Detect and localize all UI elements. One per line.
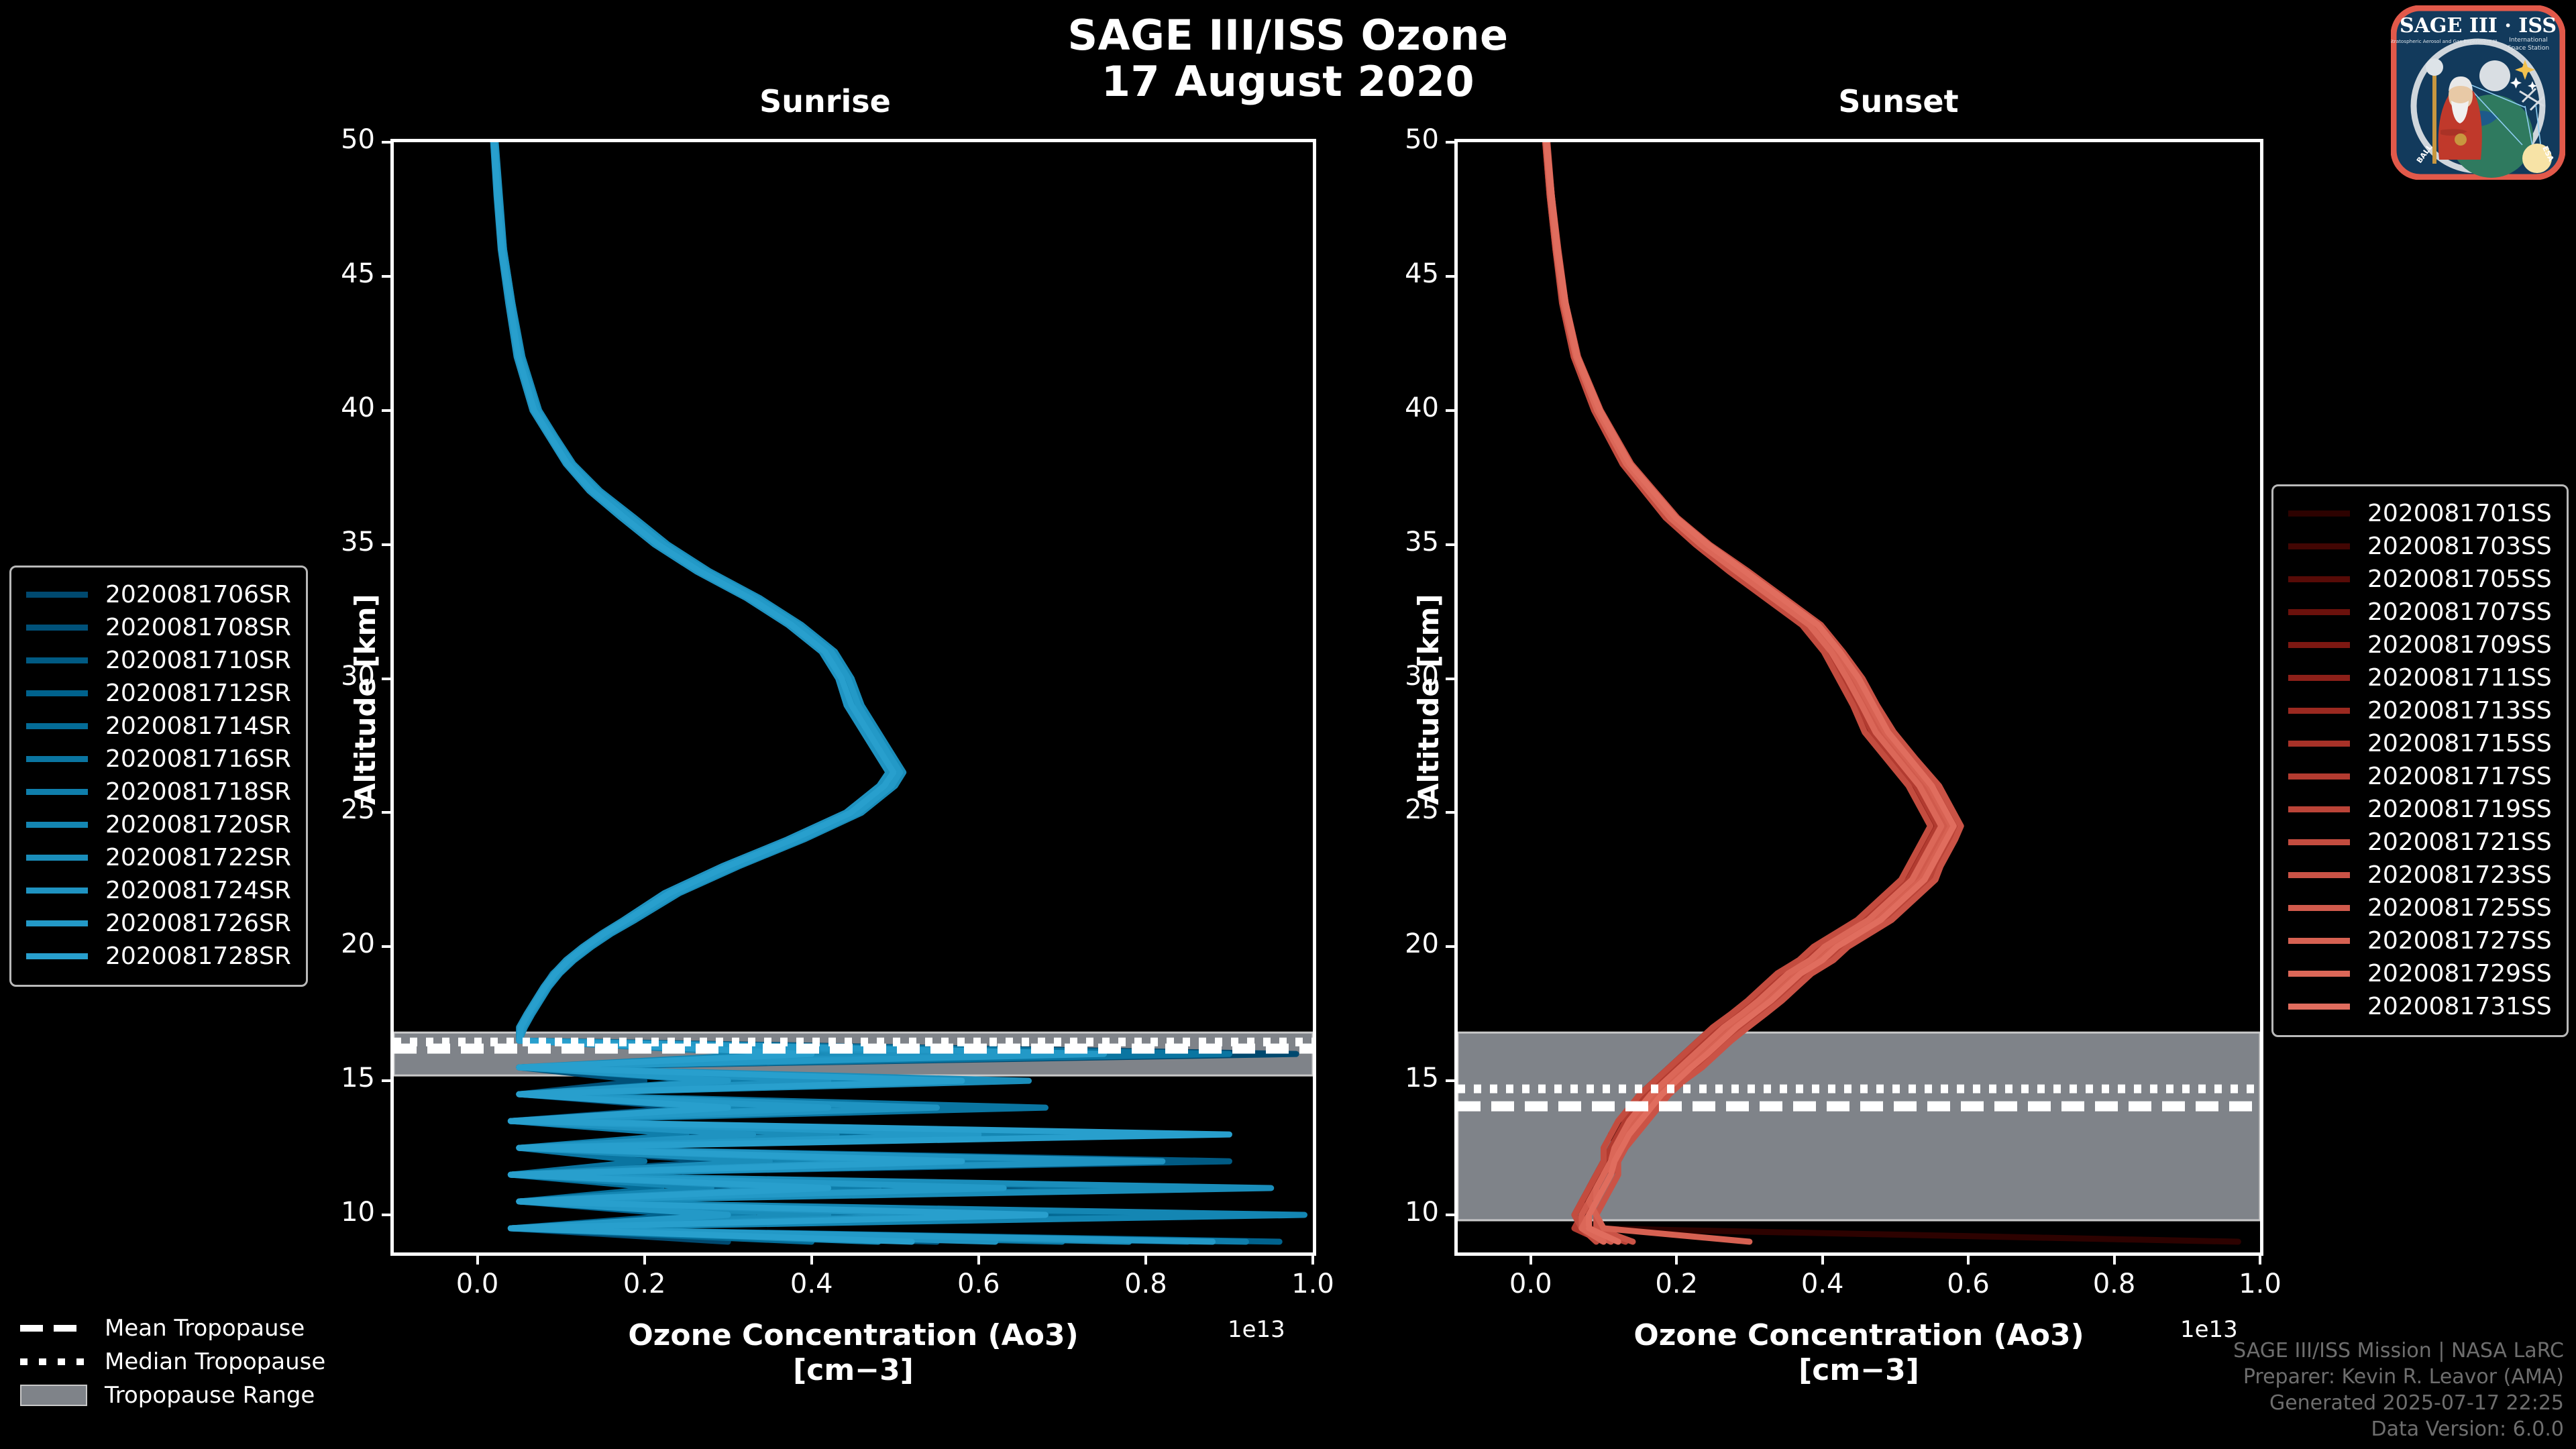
legend-item-label: 2020081709SS xyxy=(2367,631,2552,659)
legend-item-label: 2020081710SR xyxy=(105,647,291,674)
legend-color-swatch xyxy=(2288,511,2350,517)
y-tick-mark xyxy=(382,141,394,144)
y-tick-label: 45 xyxy=(294,258,375,289)
x-tick-label: 1.0 xyxy=(2206,1269,2314,1299)
legend-color-swatch xyxy=(2288,872,2350,878)
legend-item-label: 2020081731SS xyxy=(2367,993,2552,1020)
tropopause-legend-mean-row: Mean Tropopause xyxy=(20,1311,325,1345)
y-tick-mark xyxy=(382,409,394,412)
legend-item-label: 2020081705SS xyxy=(2367,566,2552,593)
footer-generated: Generated 2025-07-17 22:25 xyxy=(2233,1390,2564,1416)
legend-color-swatch xyxy=(26,625,88,631)
sunrise-exponent-label: 1e13 xyxy=(1228,1316,1285,1343)
tropopause-legend-median-row: Median Tropopause xyxy=(20,1345,325,1379)
y-tick-mark xyxy=(1446,811,1458,814)
legend-item-label: 2020081708SR xyxy=(105,614,291,641)
legend-item[interactable]: 2020081726SR xyxy=(26,907,291,940)
sunset-profile-svg xyxy=(1458,142,2260,1252)
sunset-x-axis-label: Ozone Concentration (Ao3) [cm−3] xyxy=(1454,1318,2263,1388)
legend-item[interactable]: 2020081722SR xyxy=(26,841,291,874)
y-tick-mark xyxy=(1446,1214,1458,1216)
x-tick-mark xyxy=(476,1252,479,1265)
y-tick-mark xyxy=(382,275,394,278)
legend-color-swatch xyxy=(26,657,88,663)
sunrise-xlabel-line2: [cm−3] xyxy=(390,1353,1316,1388)
legend-color-swatch xyxy=(26,920,88,926)
y-tick-mark xyxy=(1446,1079,1458,1082)
sunrise-xlabel-line1: Ozone Concentration (Ao3) xyxy=(390,1318,1316,1353)
tropopause-legend-range-row: Tropopause Range xyxy=(20,1379,325,1412)
legend-item[interactable]: 2020081731SS xyxy=(2288,990,2552,1023)
logo-svg: SAGE III · ISS Stratospheric Aerosol and… xyxy=(2391,5,2565,180)
x-tick-label: 0.8 xyxy=(1092,1269,1199,1299)
y-tick-label: 45 xyxy=(1358,258,1439,289)
legend-item[interactable]: 2020081724SR xyxy=(26,874,291,907)
x-tick-label: 0.6 xyxy=(925,1269,1032,1299)
legend-item-label: 2020081724SR xyxy=(105,877,291,904)
legend-item-label: 2020081729SS xyxy=(2367,960,2552,987)
sunset-xlabel-line2: [cm−3] xyxy=(1454,1353,2263,1388)
y-tick-mark xyxy=(382,811,394,814)
legend-color-swatch xyxy=(2288,938,2350,944)
legend-item[interactable]: 2020081703SS xyxy=(2288,530,2552,563)
x-tick-label: 1.0 xyxy=(1259,1269,1366,1299)
legend-item-label: 2020081714SR xyxy=(105,712,291,740)
x-tick-mark xyxy=(2113,1252,2116,1265)
y-tick-label: 50 xyxy=(1358,124,1439,155)
sunrise-profile-svg xyxy=(394,142,1313,1252)
tropopause-range-box-icon xyxy=(20,1385,87,1406)
sunset-exponent-label: 1e13 xyxy=(2180,1316,2238,1343)
legend-color-swatch xyxy=(2288,1004,2350,1010)
legend-item[interactable]: 2020081727SS xyxy=(2288,924,2552,957)
x-tick-mark xyxy=(1967,1252,1970,1265)
y-tick-label: 20 xyxy=(1358,928,1439,959)
sunset-plot-area[interactable] xyxy=(1454,139,2263,1256)
legend-color-swatch xyxy=(2288,576,2350,582)
x-tick-mark xyxy=(2259,1252,2261,1265)
legend-item[interactable]: 2020081708SR xyxy=(26,611,291,644)
x-tick-mark xyxy=(1821,1252,1824,1265)
legend-item[interactable]: 2020081710SR xyxy=(26,644,291,677)
legend-item-label: 2020081703SS xyxy=(2367,533,2552,560)
y-tick-mark xyxy=(1446,543,1458,546)
title-line-2: 17 August 2020 xyxy=(0,58,2576,105)
logo-moon xyxy=(2479,60,2510,91)
legend-color-swatch xyxy=(26,789,88,795)
legend-color-swatch xyxy=(2288,675,2350,681)
legend-item-label: 2020081720SR xyxy=(105,811,291,839)
tropopause-legend[interactable]: Mean Tropopause Median Tropopause Tropop… xyxy=(20,1311,325,1412)
legend-item-label: 2020081725SS xyxy=(2367,894,2552,922)
title-line-1: SAGE III/ISS Ozone xyxy=(0,12,2576,58)
legend-item[interactable]: 2020081717SS xyxy=(2288,760,2552,793)
sunrise-panel-title: Sunrise xyxy=(590,83,1060,119)
legend-item[interactable]: 2020081712SR xyxy=(26,677,291,710)
x-tick-mark xyxy=(1311,1252,1314,1265)
sunset-xlabel-line1: Ozone Concentration (Ao3) xyxy=(1454,1318,2263,1353)
sunset-panel-title: Sunset xyxy=(1664,83,2133,119)
legend-item-label: 2020081727SS xyxy=(2367,927,2552,955)
legend-item[interactable]: 2020081728SR xyxy=(26,940,291,973)
legend-item[interactable]: 2020081723SS xyxy=(2288,859,2552,892)
tropopause-range-label: Tropopause Range xyxy=(105,1382,315,1409)
legend-item[interactable]: 2020081729SS xyxy=(2288,957,2552,990)
legend-item-label: 2020081723SS xyxy=(2367,861,2552,889)
y-tick-mark xyxy=(382,945,394,948)
y-tick-mark xyxy=(1446,275,1458,278)
x-tick-mark xyxy=(977,1252,980,1265)
y-tick-mark xyxy=(1446,945,1458,948)
legend-item[interactable]: 2020081718SR xyxy=(26,775,291,808)
legend-color-swatch xyxy=(26,953,88,959)
x-tick-label: 0.0 xyxy=(424,1269,531,1299)
legend-color-swatch xyxy=(2288,971,2350,977)
median-tropopause-label: Median Tropopause xyxy=(105,1348,325,1375)
mean-tropopause-dash-icon xyxy=(20,1325,87,1332)
legend-item[interactable]: 2020081707SS xyxy=(2288,596,2552,629)
x-tick-label: 0.4 xyxy=(1769,1269,1876,1299)
y-tick-label: 15 xyxy=(294,1063,375,1093)
y-tick-mark xyxy=(1446,141,1458,144)
legend-item[interactable]: 2020081714SR xyxy=(26,710,291,743)
x-tick-label: 0.2 xyxy=(591,1269,698,1299)
logo-title: SAGE III · ISS xyxy=(2400,14,2557,38)
legend-color-swatch xyxy=(26,756,88,762)
legend-color-swatch xyxy=(2288,806,2350,812)
sage-iii-iss-mission-patch-logo: SAGE III · ISS Stratospheric Aerosol and… xyxy=(2391,5,2565,180)
sunrise-y-axis-label: Altitude [km] xyxy=(349,594,382,805)
y-tick-label: 40 xyxy=(294,392,375,423)
legend-item[interactable]: 2020081720SR xyxy=(26,808,291,841)
x-tick-label: 0.0 xyxy=(1477,1269,1585,1299)
x-tick-label: 0.6 xyxy=(1915,1269,2022,1299)
legend-item[interactable]: 2020081716SR xyxy=(26,743,291,775)
x-tick-label: 0.8 xyxy=(2061,1269,2168,1299)
x-tick-label: 0.4 xyxy=(758,1269,865,1299)
page-title: SAGE III/ISS Ozone 17 August 2020 xyxy=(0,12,2576,105)
y-tick-mark xyxy=(382,678,394,680)
y-tick-label: 35 xyxy=(1358,527,1439,557)
legend-item[interactable]: 2020081713SS xyxy=(2288,694,2552,727)
legend-color-swatch xyxy=(26,690,88,696)
legend-item-label: 2020081718SR xyxy=(105,778,291,806)
sunrise-plot-area[interactable] xyxy=(390,139,1316,1256)
legend-color-swatch xyxy=(26,888,88,894)
mean-tropopause-label: Mean Tropopause xyxy=(105,1315,305,1342)
logo-subtitle-right-1: International xyxy=(2509,37,2547,44)
legend-item-label: 2020081717SS xyxy=(2367,763,2552,790)
legend-item-label: 2020081716SR xyxy=(105,745,291,773)
x-tick-mark xyxy=(1675,1252,1678,1265)
legend-color-swatch xyxy=(26,822,88,828)
y-tick-label: 10 xyxy=(294,1197,375,1228)
legend-color-swatch xyxy=(2288,741,2350,747)
legend-item-label: 2020081721SS xyxy=(2367,828,2552,856)
legend-item-label: 2020081719SS xyxy=(2367,796,2552,823)
legend-item[interactable]: 2020081715SS xyxy=(2288,727,2552,760)
footer-credits: SAGE III/ISS Mission | NASA LaRC Prepare… xyxy=(2233,1338,2564,1442)
y-tick-label: 35 xyxy=(294,527,375,557)
legend-color-swatch xyxy=(2288,773,2350,780)
legend-item[interactable]: 2020081721SS xyxy=(2288,826,2552,859)
legend-item[interactable]: 2020081711SS xyxy=(2288,661,2552,694)
sunset-y-axis-label: Altitude [km] xyxy=(1412,594,1445,805)
logo-subtitle-left: Stratospheric Aerosol and Gas Experiment… xyxy=(2391,38,2498,44)
y-tick-mark xyxy=(1446,409,1458,412)
footer-mission: SAGE III/ISS Mission | NASA LaRC xyxy=(2233,1338,2564,1364)
median-tropopause-dot-icon xyxy=(20,1358,87,1365)
footer-data-version: Data Version: 6.0.0 xyxy=(2233,1416,2564,1442)
legend-color-swatch xyxy=(26,723,88,729)
legend-item-label: 2020081706SR xyxy=(105,581,291,608)
legend-color-swatch xyxy=(2288,642,2350,648)
legend-color-swatch xyxy=(2288,905,2350,911)
legend-item-label: 2020081715SS xyxy=(2367,730,2552,757)
legend-item[interactable]: 2020081725SS xyxy=(2288,892,2552,924)
legend-color-swatch xyxy=(26,592,88,598)
legend-item-label: 2020081707SS xyxy=(2367,598,2552,626)
legend-item[interactable]: 2020081709SS xyxy=(2288,629,2552,661)
x-tick-mark xyxy=(1144,1252,1147,1265)
y-tick-label: 10 xyxy=(1358,1197,1439,1228)
y-tick-label: 15 xyxy=(1358,1063,1439,1093)
y-tick-label: 50 xyxy=(294,124,375,155)
legend-item[interactable]: 2020081719SS xyxy=(2288,793,2552,826)
y-tick-mark xyxy=(382,1079,394,1082)
footer-preparer: Preparer: Kevin R. Leavor (AMA) xyxy=(2233,1364,2564,1390)
legend-item-label: 2020081711SS xyxy=(2367,664,2552,692)
legend-item-label: 2020081701SS xyxy=(2367,500,2552,527)
x-tick-label: 0.2 xyxy=(1623,1269,1730,1299)
sunrise-legend[interactable]: 2020081706SR2020081708SR2020081710SR2020… xyxy=(9,566,308,987)
x-tick-mark xyxy=(643,1252,646,1265)
x-tick-mark xyxy=(810,1252,813,1265)
y-tick-mark xyxy=(1446,678,1458,680)
legend-color-swatch xyxy=(2288,839,2350,845)
logo-subtitle-right-2: Space Station xyxy=(2508,45,2549,52)
y-tick-mark xyxy=(382,543,394,546)
legend-item-label: 2020081722SR xyxy=(105,844,291,871)
legend-item[interactable]: 2020081705SS xyxy=(2288,563,2552,596)
legend-item[interactable]: 2020081706SR xyxy=(26,578,291,611)
tropopause-range-band xyxy=(1458,1032,2260,1220)
legend-color-swatch xyxy=(2288,609,2350,615)
y-tick-mark xyxy=(382,1214,394,1216)
legend-item-label: 2020081728SR xyxy=(105,943,291,970)
sunset-legend[interactable]: 2020081701SS2020081703SS2020081705SS2020… xyxy=(2271,484,2569,1037)
legend-color-swatch xyxy=(2288,543,2350,549)
legend-color-swatch xyxy=(26,855,88,861)
y-tick-label: 40 xyxy=(1358,392,1439,423)
legend-item-label: 2020081726SR xyxy=(105,910,291,937)
legend-color-swatch xyxy=(2288,708,2350,714)
legend-item[interactable]: 2020081701SS xyxy=(2288,497,2552,530)
sunrise-x-axis-label: Ozone Concentration (Ao3) [cm−3] xyxy=(390,1318,1316,1388)
legend-item-label: 2020081713SS xyxy=(2367,697,2552,724)
x-tick-mark xyxy=(1529,1252,1532,1265)
legend-item-label: 2020081712SR xyxy=(105,680,291,707)
